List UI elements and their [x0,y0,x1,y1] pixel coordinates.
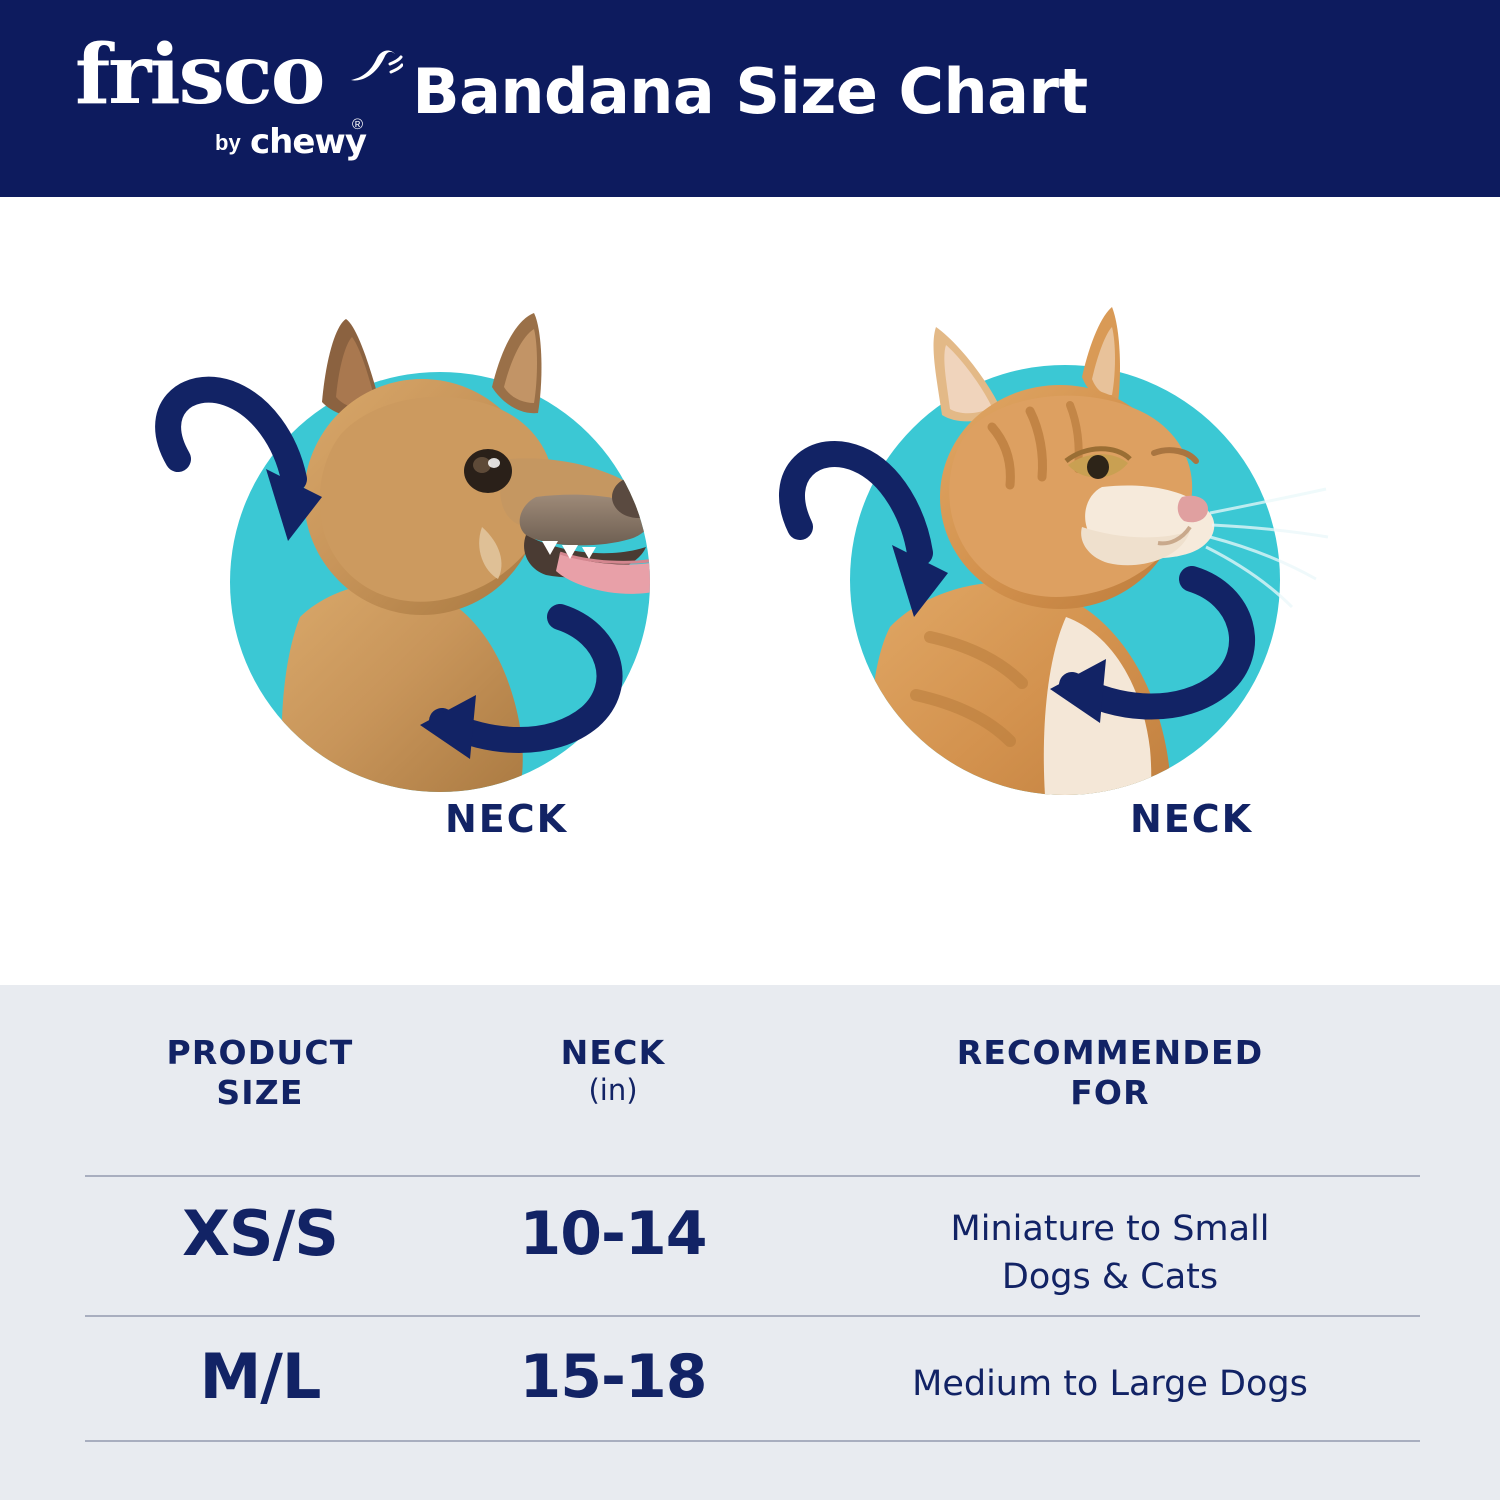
cell-neck: 10-14 [463,1200,763,1268]
column-header-product-size: PRODUCT SIZE [110,1033,410,1113]
cat-head-icon [730,197,1430,897]
cell-recommended: Miniature to Small Dogs & Cats [860,1205,1360,1301]
dog-neck-label: NECK [445,797,568,841]
table-row: XS/S 10-14 Miniature to Small Dogs & Cat… [0,1175,1500,1315]
recommended-text-line1: Miniature to Small [860,1205,1360,1253]
size-table: PRODUCT SIZE NECK (in) RECOMMENDED FOR X… [0,985,1500,1475]
column-header-neck: NECK (in) [463,1033,763,1107]
illustration-area: NECK [0,197,1500,985]
table-divider [85,1175,1420,1177]
recommended-text-line1: Medium to Large Dogs [860,1360,1360,1408]
cat-neck-label: NECK [1130,797,1253,841]
neck-header-unit: (in) [463,1073,763,1107]
page-title: Bandana Size Chart [0,55,1500,128]
dog-head-icon [90,197,790,897]
product-size-line1: PRODUCT [110,1033,410,1073]
table-divider [85,1440,1420,1442]
neck-header-line1: NECK [463,1033,763,1073]
recommended-line1: RECOMMENDED [860,1033,1360,1073]
cat-measurement-illustration: NECK [730,197,1430,897]
size-chart-page: frisco ® by chewy Bandana Size Chart [0,0,1500,1500]
size-table-section: PRODUCT SIZE NECK (in) RECOMMENDED FOR X… [0,985,1500,1500]
table-row: M/L 15-18 Medium to Large Dogs [0,1315,1500,1475]
column-header-recommended-for: RECOMMENDED FOR [860,1033,1360,1113]
cell-size: XS/S [110,1200,410,1268]
recommended-text-line2: Dogs & Cats [860,1253,1360,1301]
cell-recommended: Medium to Large Dogs [860,1360,1360,1408]
cell-size: M/L [110,1343,410,1411]
logo-byline-prefix: by [215,130,241,156]
table-header-row: PRODUCT SIZE NECK (in) RECOMMENDED FOR [0,985,1500,1175]
table-divider [85,1315,1420,1317]
chewy-wordmark: chewy [250,122,366,162]
cell-neck: 15-18 [463,1343,763,1411]
page-header: frisco ® by chewy Bandana Size Chart [0,0,1500,197]
dog-measurement-illustration: NECK [90,197,790,897]
product-size-line2: SIZE [110,1073,410,1113]
recommended-line2: FOR [860,1073,1360,1113]
